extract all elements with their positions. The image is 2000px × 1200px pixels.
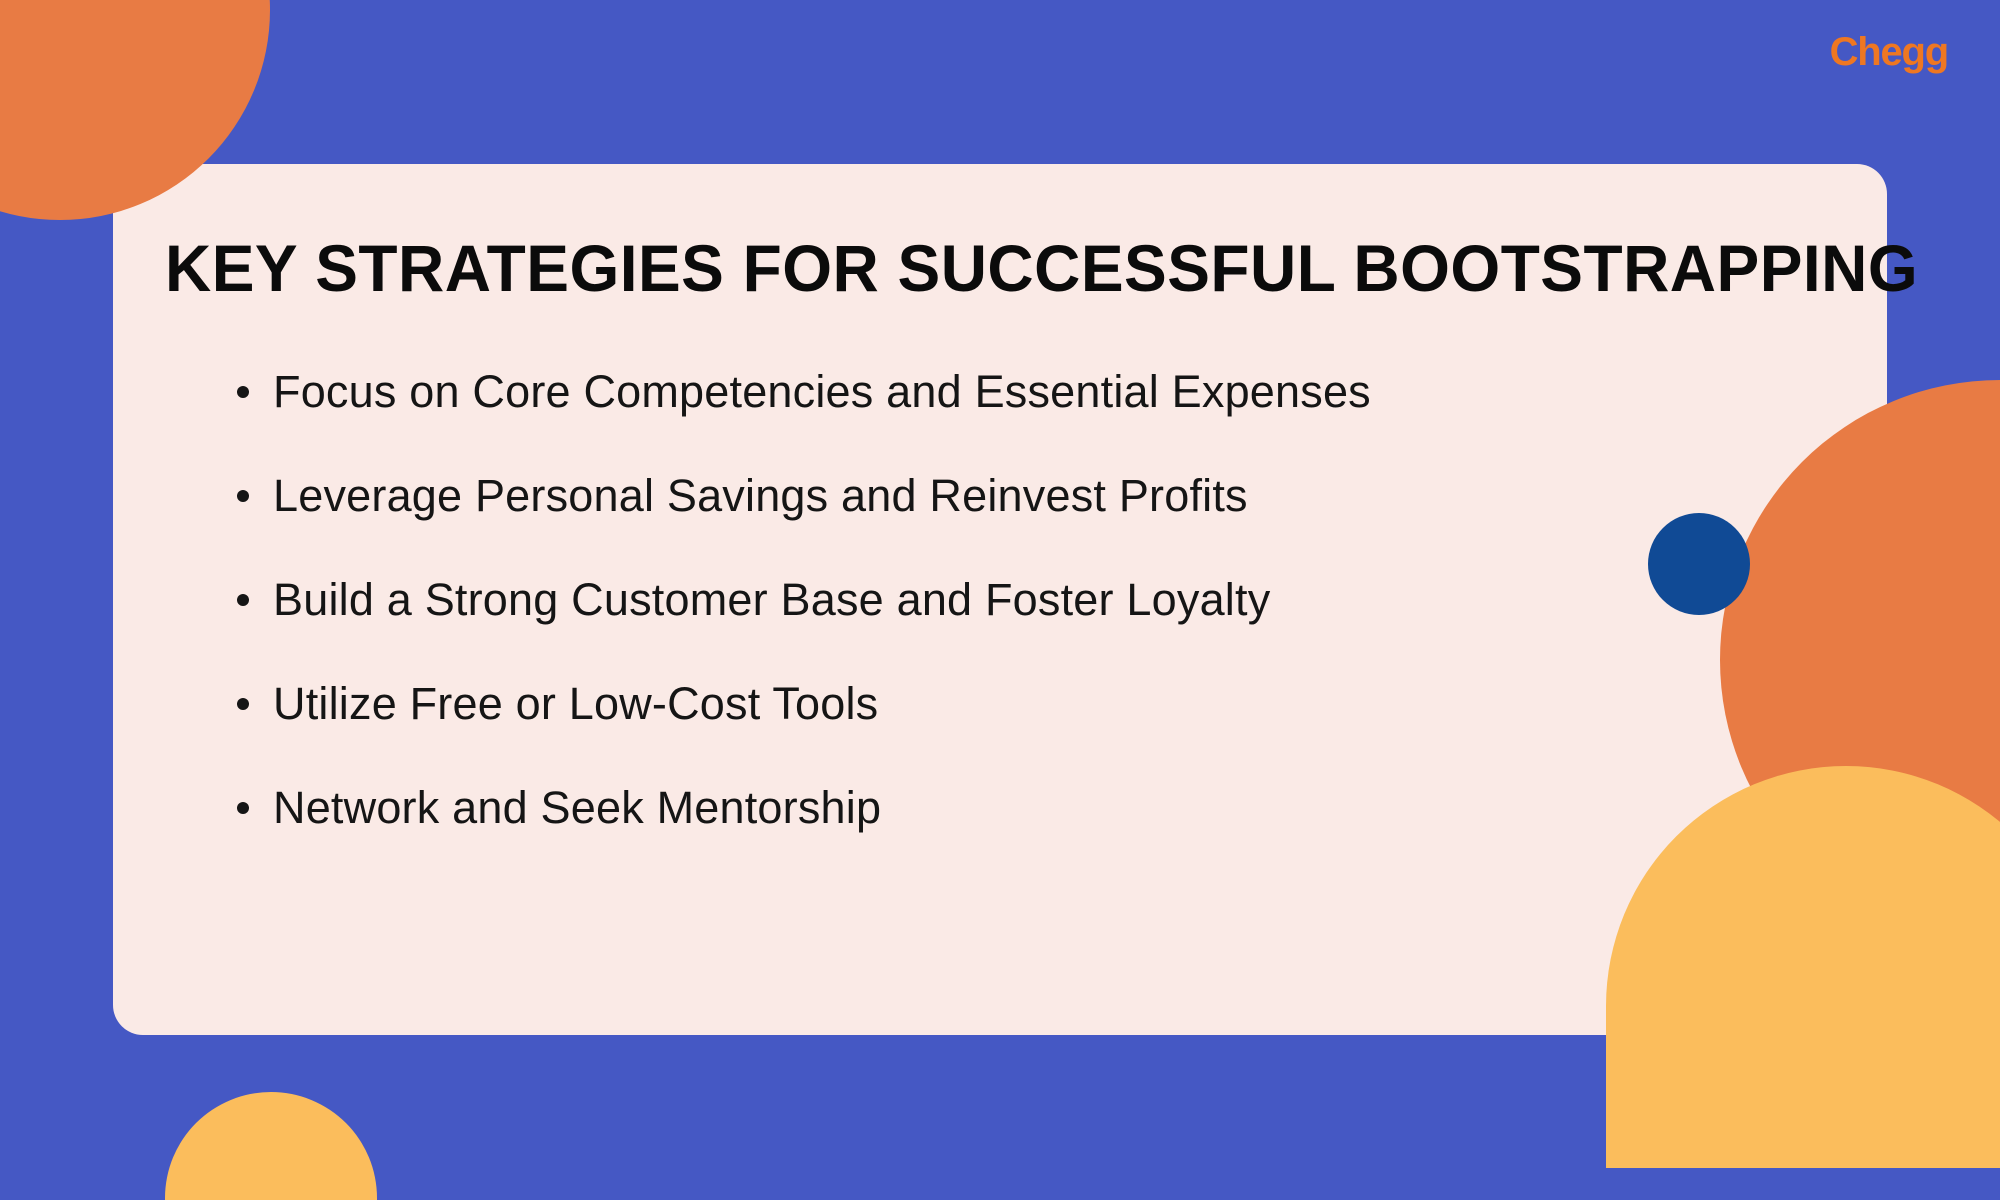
yellow-arch-bottom-left-shape [165,1092,377,1200]
bullet-dot-icon [237,386,249,398]
page-title: KEY STRATEGIES FOR SUCCESSFUL BOOTSTRAPP… [165,234,1777,303]
list-item-label: Focus on Core Competencies and Essential… [273,366,1371,417]
list-item-label: Network and Seek Mentorship [273,782,881,833]
list-item: Utilize Free or Low-Cost Tools [273,681,1827,726]
chegg-logo: Chegg [1830,32,1948,72]
list-item-label: Build a Strong Customer Base and Foster … [273,574,1270,625]
bullet-dot-icon [237,490,249,502]
card-content: KEY STRATEGIES FOR SUCCESSFUL BOOTSTRAPP… [113,164,1887,1035]
list-item: Focus on Core Competencies and Essential… [273,369,1827,414]
bullet-dot-icon [237,698,249,710]
list-item-label: Leverage Personal Savings and Reinvest P… [273,470,1248,521]
bullet-dot-icon [237,594,249,606]
list-item: Leverage Personal Savings and Reinvest P… [273,473,1827,518]
bullet-dot-icon [237,802,249,814]
slide-canvas: KEY STRATEGIES FOR SUCCESSFUL BOOTSTRAPP… [0,0,2000,1200]
list-item-label: Utilize Free or Low-Cost Tools [273,678,878,729]
strategy-bullet-list: Focus on Core Competencies and Essential… [165,369,1827,830]
list-item: Network and Seek Mentorship [273,785,1827,830]
list-item: Build a Strong Customer Base and Foster … [273,577,1827,622]
